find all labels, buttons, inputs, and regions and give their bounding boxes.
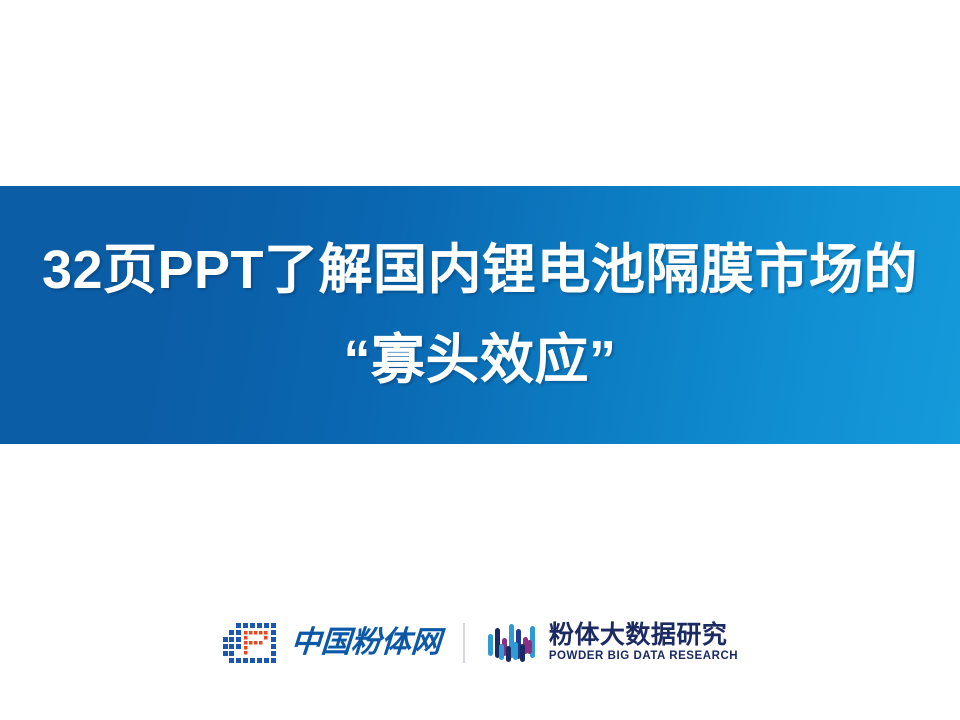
footer-logo-row: 中国粉体网 bbox=[0, 612, 960, 674]
pbd-chinese-name: 粉体大数据研究 bbox=[549, 622, 738, 648]
title-line-1: 32页PPT了解国内锂电池隔膜市场的 bbox=[42, 243, 918, 297]
pbd-english-name: POWDER BIG DATA RESEARCH bbox=[549, 650, 738, 664]
title-band: 32页PPT了解国内锂电池隔膜市场的 “寡头效应” bbox=[0, 186, 960, 444]
powder-bars-mark bbox=[487, 620, 539, 666]
logo-divider bbox=[463, 623, 465, 663]
cfw-wordmark: 中国粉体网 bbox=[290, 628, 442, 658]
cfw-pixel-c-mark bbox=[222, 621, 284, 665]
powder-big-data-textblock: 粉体大数据研究 POWDER BIG DATA RESEARCH bbox=[549, 622, 738, 664]
slide-root: 32页PPT了解国内锂电池隔膜市场的 “寡头效应” bbox=[0, 0, 960, 720]
title-line-2: “寡头效应” bbox=[344, 333, 617, 387]
logo-china-powder-net[interactable]: 中国粉体网 bbox=[222, 621, 441, 665]
logo-powder-big-data[interactable]: 粉体大数据研究 POWDER BIG DATA RESEARCH bbox=[487, 620, 738, 666]
